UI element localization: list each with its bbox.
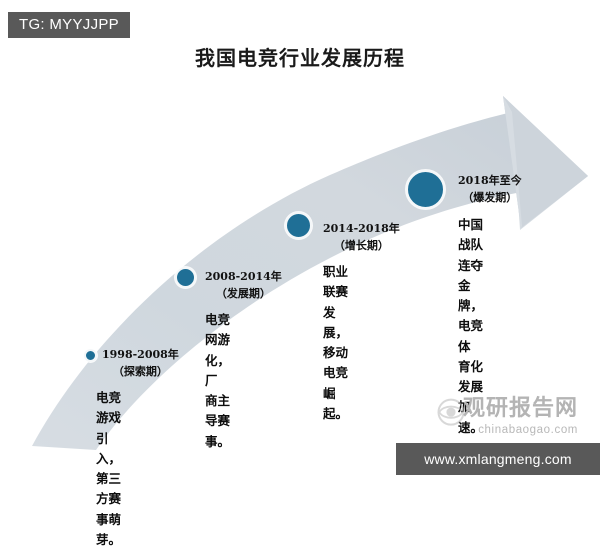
milestone-2-period-group: 2008-2014年 （发展期） (205, 268, 282, 302)
milestone-4-period-group: 2018年至今 （爆发期） (458, 172, 522, 206)
milestone-2-desc-line1: 电竞网游化，厂 (205, 310, 230, 391)
milestone-2-desc-line2: 商主导赛事。 (205, 391, 230, 452)
milestone-3-desc-line3: 崛起。 (323, 384, 348, 425)
watermark: 观研报告网 chinabaogao.com (386, 396, 586, 444)
milestone-1-desc-line1: 电竞游戏引入， (96, 388, 121, 469)
milestone-1-period: 1998-2008年 (102, 348, 179, 361)
milestone-4-desc-line2: 金牌，电竞体 (458, 276, 483, 357)
milestone-4-desc-line1: 中国战队连夺 (458, 215, 483, 276)
watermark-brand-en: chinabaogao.com (478, 424, 578, 436)
milestone-1-phase: （探索期） (102, 363, 179, 380)
milestone-2-phase: （发展期） (205, 285, 282, 302)
milestone-2-description: 电竞网游化，厂 商主导赛事。 (205, 310, 230, 452)
milestone-1-desc-line2: 第三方赛事萌芽。 (96, 469, 121, 550)
watermark-brand-cn: 观研报告网 (463, 396, 578, 420)
slide-canvas: TG: MYYJJPP 我国电竞行业发展历程 1998-2008年 (0, 0, 600, 480)
milestone-1-dot[interactable] (84, 349, 97, 362)
milestone-4-period: 2018年至今 (458, 174, 522, 187)
milestone-3-phase: （增长期） (323, 237, 400, 254)
milestone-3-desc-line1: 职业联赛发 (323, 262, 348, 323)
milestone-4-dot[interactable] (406, 170, 445, 209)
milestone-3-desc-line2: 展，移动电竞 (323, 323, 348, 384)
milestone-2-dot[interactable] (175, 267, 196, 288)
milestone-1-description: 电竞游戏引入， 第三方赛事萌芽。 (96, 388, 121, 550)
milestone-2-period: 2008-2014年 (205, 270, 282, 283)
milestone-3-dot[interactable] (285, 212, 312, 239)
milestone-1-period-group: 1998-2008年 （探索期） (102, 346, 179, 380)
milestone-3-period: 2014-2018年 (323, 222, 400, 235)
milestone-3-description: 职业联赛发 展，移动电竞 崛起。 (323, 262, 348, 424)
milestone-3-period-group: 2014-2018年 （增长期） (323, 220, 400, 254)
milestone-4-phase: （爆发期） (458, 189, 522, 206)
footer-url-bar: www.xmlangmeng.com (396, 443, 600, 475)
